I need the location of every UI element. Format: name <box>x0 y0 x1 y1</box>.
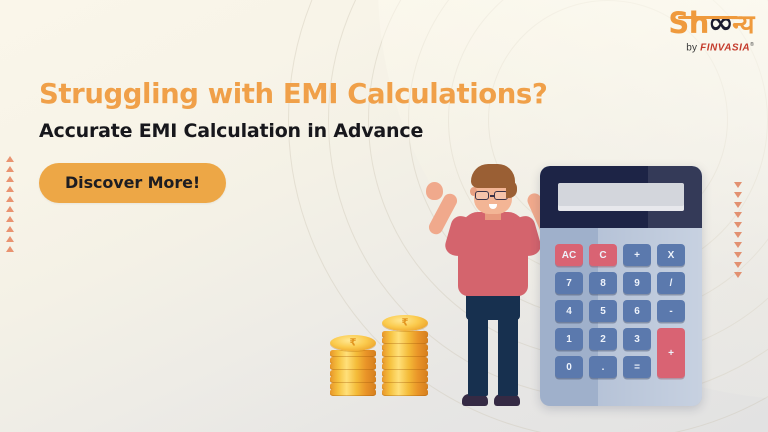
sleeve-left <box>443 214 475 259</box>
coin <box>382 363 428 370</box>
triangle-down-icon <box>734 272 742 278</box>
coin-stack-short <box>330 335 376 397</box>
calc-key-5[interactable]: 5 <box>589 300 617 322</box>
coin <box>330 376 376 383</box>
mouth <box>489 204 497 209</box>
triangle-up-icon <box>6 216 14 222</box>
coin <box>330 363 376 370</box>
logo-tagline-prefix: by <box>686 42 697 53</box>
calc-key-2[interactable]: 2 <box>589 328 617 350</box>
coin <box>382 357 428 364</box>
calc-key-8[interactable]: 8 <box>589 272 617 294</box>
calc-key-6[interactable]: 6 <box>623 300 651 322</box>
torso <box>458 216 528 296</box>
coin <box>382 383 428 390</box>
triangle-up-icon <box>6 156 14 162</box>
triangle-up-icon <box>6 236 14 242</box>
triangle-down-icon <box>734 252 742 258</box>
triangle-down-icon <box>734 262 742 268</box>
calc-key-0[interactable]: 0 <box>555 356 583 378</box>
emi-promo-banner: Sh ∞ न्य by FINVASIA® Struggling with EM… <box>0 0 768 432</box>
shoonya-logo[interactable]: Sh ∞ न्य by FINVASIA® <box>668 8 754 53</box>
calc-key-plus[interactable]: + <box>657 328 685 378</box>
triangle-down-icon <box>734 222 742 228</box>
logo-part-devanagari: न्य <box>732 12 754 38</box>
logo-tagline: by FINVASIA® <box>668 43 754 53</box>
headline: Struggling with EMI Calculations? <box>39 78 547 110</box>
person-illustration <box>440 176 560 406</box>
calculator-top-sheen <box>648 166 702 228</box>
calc-key-dot[interactable]: . <box>589 356 617 378</box>
coin <box>330 389 376 396</box>
leg-right <box>498 300 518 396</box>
triangle-up-icon <box>6 166 14 172</box>
calculator-display <box>558 183 684 211</box>
copy-block: Struggling with EMI Calculations? Accura… <box>39 78 547 203</box>
calc-key-9[interactable]: 9 <box>623 272 651 294</box>
shoe-left <box>462 394 488 406</box>
coin <box>382 389 428 396</box>
calc-key-x[interactable]: X <box>657 244 685 266</box>
calc-key-7[interactable]: 7 <box>555 272 583 294</box>
logo-wordmark: Sh ∞ न्य <box>668 8 754 39</box>
calc-key-divide[interactable]: / <box>657 272 685 294</box>
background-arcs <box>298 0 768 430</box>
neck <box>485 208 501 220</box>
coin <box>382 376 428 383</box>
coin <box>382 370 428 377</box>
coin <box>382 337 428 344</box>
triangle-up-icon <box>6 176 14 182</box>
calc-key-ac[interactable]: AC <box>555 244 583 266</box>
shoulders <box>462 212 524 238</box>
coin <box>382 344 428 351</box>
coin <box>330 370 376 377</box>
triangle-down-icon <box>734 192 742 198</box>
triangle-up-icon <box>6 196 14 202</box>
calc-key-c[interactable]: C <box>589 244 617 266</box>
calculator: ACC+X789/456-123+0.= <box>540 166 702 406</box>
triangle-down-icon <box>734 242 742 248</box>
triangle-up-icon <box>6 226 14 232</box>
discover-more-button[interactable]: Discover More! <box>39 163 226 203</box>
sleeve-right <box>511 214 543 259</box>
coin <box>382 331 428 338</box>
hip <box>466 286 520 320</box>
shoe-right <box>494 394 520 406</box>
calc-key-plus[interactable]: + <box>623 244 651 266</box>
triangle-down-icon <box>734 232 742 238</box>
triangle-down-icon <box>734 212 742 218</box>
leg-left <box>468 300 488 396</box>
logo-tagline-brand: FINVASIA <box>700 42 750 53</box>
subheadline: Accurate EMI Calculation in Advance <box>39 120 547 142</box>
calc-key-3[interactable]: 3 <box>623 328 651 350</box>
logo-bar <box>678 16 738 19</box>
triangle-down-icon <box>734 202 742 208</box>
calculator-sheen <box>598 166 702 406</box>
right-triangle-strip <box>734 182 742 278</box>
calculator-keypad[interactable]: ACC+X789/456-123+0.= <box>555 244 687 378</box>
illustration-scene: ACC+X789/456-123+0.= <box>0 0 768 432</box>
coin-stack-tall <box>382 315 428 396</box>
calc-key-4[interactable]: 4 <box>555 300 583 322</box>
calculator-top-panel <box>540 166 702 228</box>
registered-mark: ® <box>750 42 754 48</box>
coin <box>330 350 376 357</box>
infinity-icon: ∞ <box>708 8 733 39</box>
left-triangle-strip <box>6 156 14 252</box>
coin <box>330 383 376 390</box>
calc-key-1[interactable]: 1 <box>555 328 583 350</box>
triangle-up-icon <box>6 246 14 252</box>
coin <box>382 350 428 357</box>
coin <box>330 357 376 364</box>
logo-part-sh: Sh <box>668 9 709 38</box>
triangle-down-icon <box>734 182 742 188</box>
triangle-up-icon <box>6 186 14 192</box>
coin-top-rupee <box>330 335 376 351</box>
calc-key-equals[interactable]: = <box>623 356 651 378</box>
triangle-up-icon <box>6 206 14 212</box>
calc-key-minus[interactable]: - <box>657 300 685 322</box>
coin-top-rupee <box>382 315 428 331</box>
